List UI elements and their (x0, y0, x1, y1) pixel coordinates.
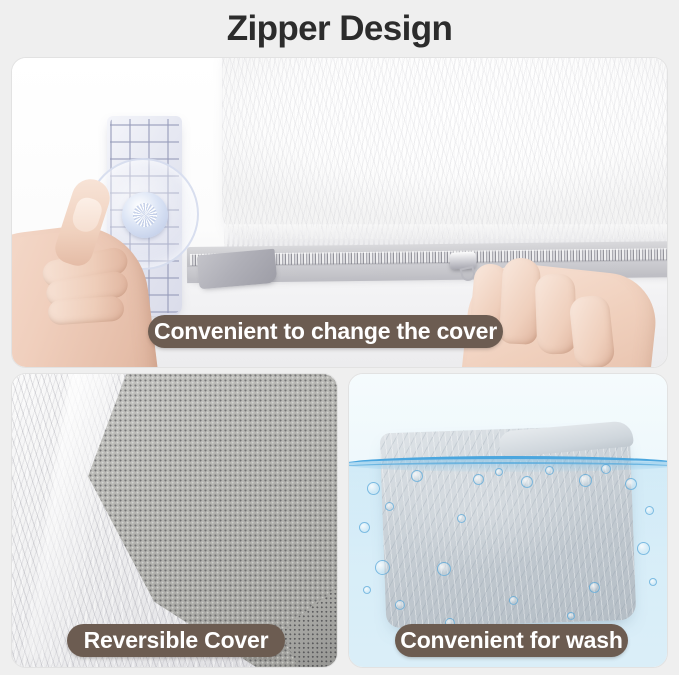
air-bubble (363, 586, 371, 594)
zipper-fabric-flap (197, 249, 278, 290)
product-infographic: Zipper Design (0, 0, 679, 675)
air-bubble (645, 506, 654, 515)
water-surface-line-secondary (349, 462, 667, 472)
left-hand-finger (47, 295, 125, 325)
white-plush-fur-cover (222, 58, 667, 239)
air-bubble (457, 514, 466, 523)
caption-badge-reversible: Reversible Cover (67, 624, 285, 657)
caption-badge-zipper: Convenient to change the cover (148, 315, 503, 348)
page-title: Zipper Design (0, 8, 679, 50)
air-bubble (579, 474, 592, 487)
air-bubble (649, 578, 657, 586)
air-bubble (509, 596, 518, 605)
air-bubble (359, 522, 370, 533)
air-bubble (495, 468, 503, 476)
air-bubble (601, 464, 611, 474)
right-hand-finger (568, 294, 615, 367)
air-bubble (395, 600, 405, 610)
caption-badge-wash: Convenient for wash (395, 624, 628, 657)
air-bubble (625, 478, 637, 490)
air-bubble (545, 466, 554, 475)
air-bubble (385, 502, 394, 511)
suction-cup-core (133, 203, 157, 227)
air-bubble (637, 542, 650, 555)
air-bubble (367, 482, 380, 495)
air-bubble (437, 562, 451, 576)
air-bubble (473, 474, 484, 485)
air-bubble (521, 476, 533, 488)
air-bubble (567, 612, 575, 620)
air-bubble (589, 582, 600, 593)
air-bubble (411, 470, 423, 482)
fur-texture (222, 58, 667, 239)
air-bubble (375, 560, 390, 575)
